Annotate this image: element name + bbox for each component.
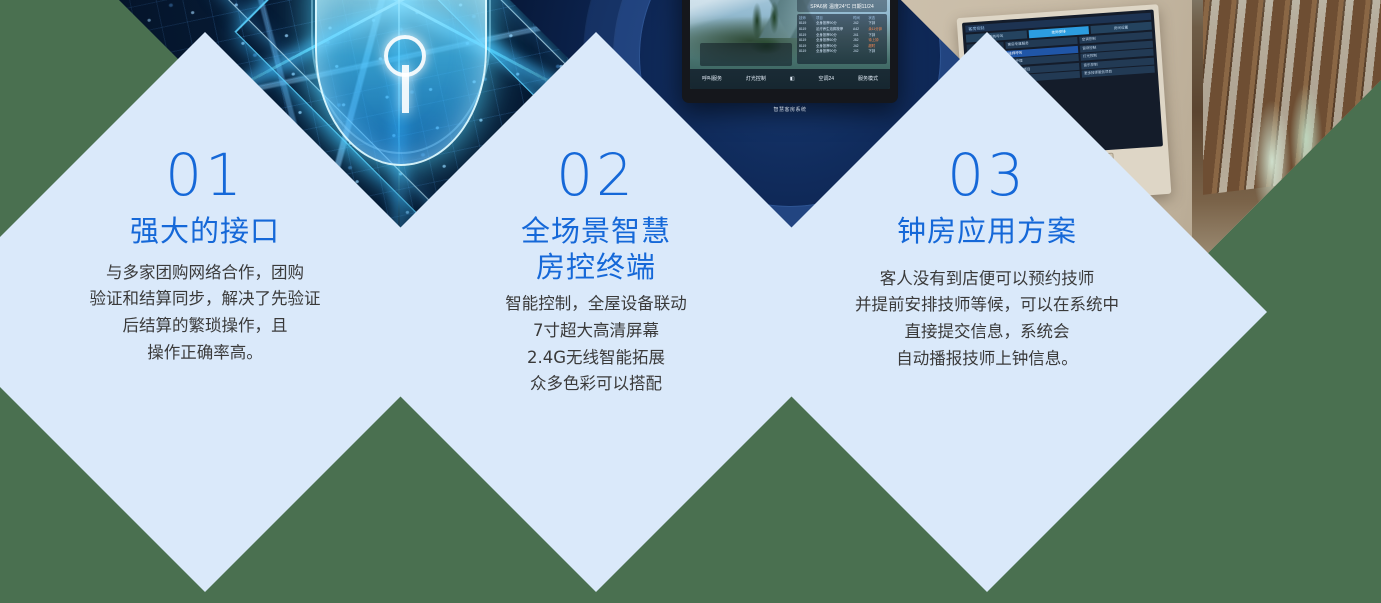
- toolbar-item: 空调24: [818, 75, 834, 82]
- toolbar-item: 灯光控制: [746, 75, 766, 82]
- card-title: 钟房应用方案: [897, 214, 1077, 250]
- title-line: 房控终端: [521, 250, 671, 286]
- infographic-stage: 房控终端 22:35 SPA6房 温度24°C 日期11/24 技师: [0, 0, 1381, 603]
- card-title: 全场景智慧 房控终端: [521, 214, 671, 285]
- cell: J42: [853, 49, 866, 55]
- title-line: 全场景智慧: [521, 214, 671, 250]
- card-number: 01: [165, 146, 245, 204]
- desc-line: 自动播报技师上钟信息。: [855, 346, 1119, 373]
- desc-line: 智能控制，全屋设备联动: [505, 291, 687, 318]
- clock-time: 22:35: [813, 0, 872, 1]
- tablet-toolbar: 呼叫服务 灯光控制 ◧ 空调24 服务模式: [690, 69, 890, 89]
- clock-widget: 22:35 SPA6房 温度24°C 日期11/24: [797, 0, 887, 12]
- home-grid-icon: ◧: [790, 76, 795, 82]
- tablet-screen: 22:35 SPA6房 温度24°C 日期11/24 技师 项目 时间 状态: [690, 0, 890, 89]
- card-title: 强大的接口: [130, 214, 280, 250]
- clock-status-line: SPA6房 温度24°C 日期11/24: [810, 3, 874, 10]
- potted-plant: [1215, 45, 1381, 269]
- desc-line: 后结算的繁琐操作，且: [89, 313, 320, 340]
- cell: 下钟: [868, 49, 885, 55]
- desc-line: 验证和结算同步，解决了先验证: [89, 286, 320, 313]
- tablet-device: 房控终端 22:35 SPA6房 温度24°C 日期11/24 技师: [682, 0, 898, 103]
- desc-line: 众多色彩可以搭配: [505, 371, 687, 398]
- panel-menu-right: 空调控制 窗帘控制 灯光控制 音乐控制 更多技师服务项目: [1079, 32, 1159, 149]
- card-description: 客人没有到店便可以预约技师 并提前安排技师等候，可以在系统中 直接提交信息，系统…: [855, 266, 1119, 373]
- cell: 8119: [799, 49, 814, 55]
- desc-line: 直接提交信息，系统会: [855, 319, 1119, 346]
- table-row: 8119 全身按摩90分 J42 下钟: [799, 49, 885, 55]
- toolbar-item: 服务模式: [858, 75, 878, 82]
- desc-line: 操作正确率高。: [89, 340, 320, 367]
- card-description: 智能控制，全屋设备联动 7寸超大高清屏幕 2.4G无线智能拓展 众多色彩可以搭配: [505, 291, 687, 398]
- cell: 全身按摩90分: [816, 49, 851, 55]
- desc-line: 2.4G无线智能拓展: [505, 345, 687, 372]
- desc-line: 并提前安排技师等候，可以在系统中: [855, 292, 1119, 319]
- desc-line: 客人没有到店便可以预约技师: [855, 266, 1119, 293]
- tablet-brand-label: 智慧客房系统: [682, 103, 898, 116]
- card-description: 与多家团购网络合作，团购 验证和结算同步，解决了先验证 后结算的繁琐操作，且 操…: [89, 260, 320, 367]
- card-number: 02: [556, 146, 636, 204]
- toolbar-item: 呼叫服务: [702, 75, 722, 82]
- technician-table: 技师 项目 时间 状态 8119 全身按摩90分 J42 下钟: [797, 14, 887, 65]
- desc-line: 7寸超大高清屏幕: [505, 318, 687, 345]
- desc-line: 与多家团购网络合作，团购: [89, 260, 320, 287]
- card-number: 03: [947, 146, 1027, 204]
- media-player-widget: [700, 43, 792, 66]
